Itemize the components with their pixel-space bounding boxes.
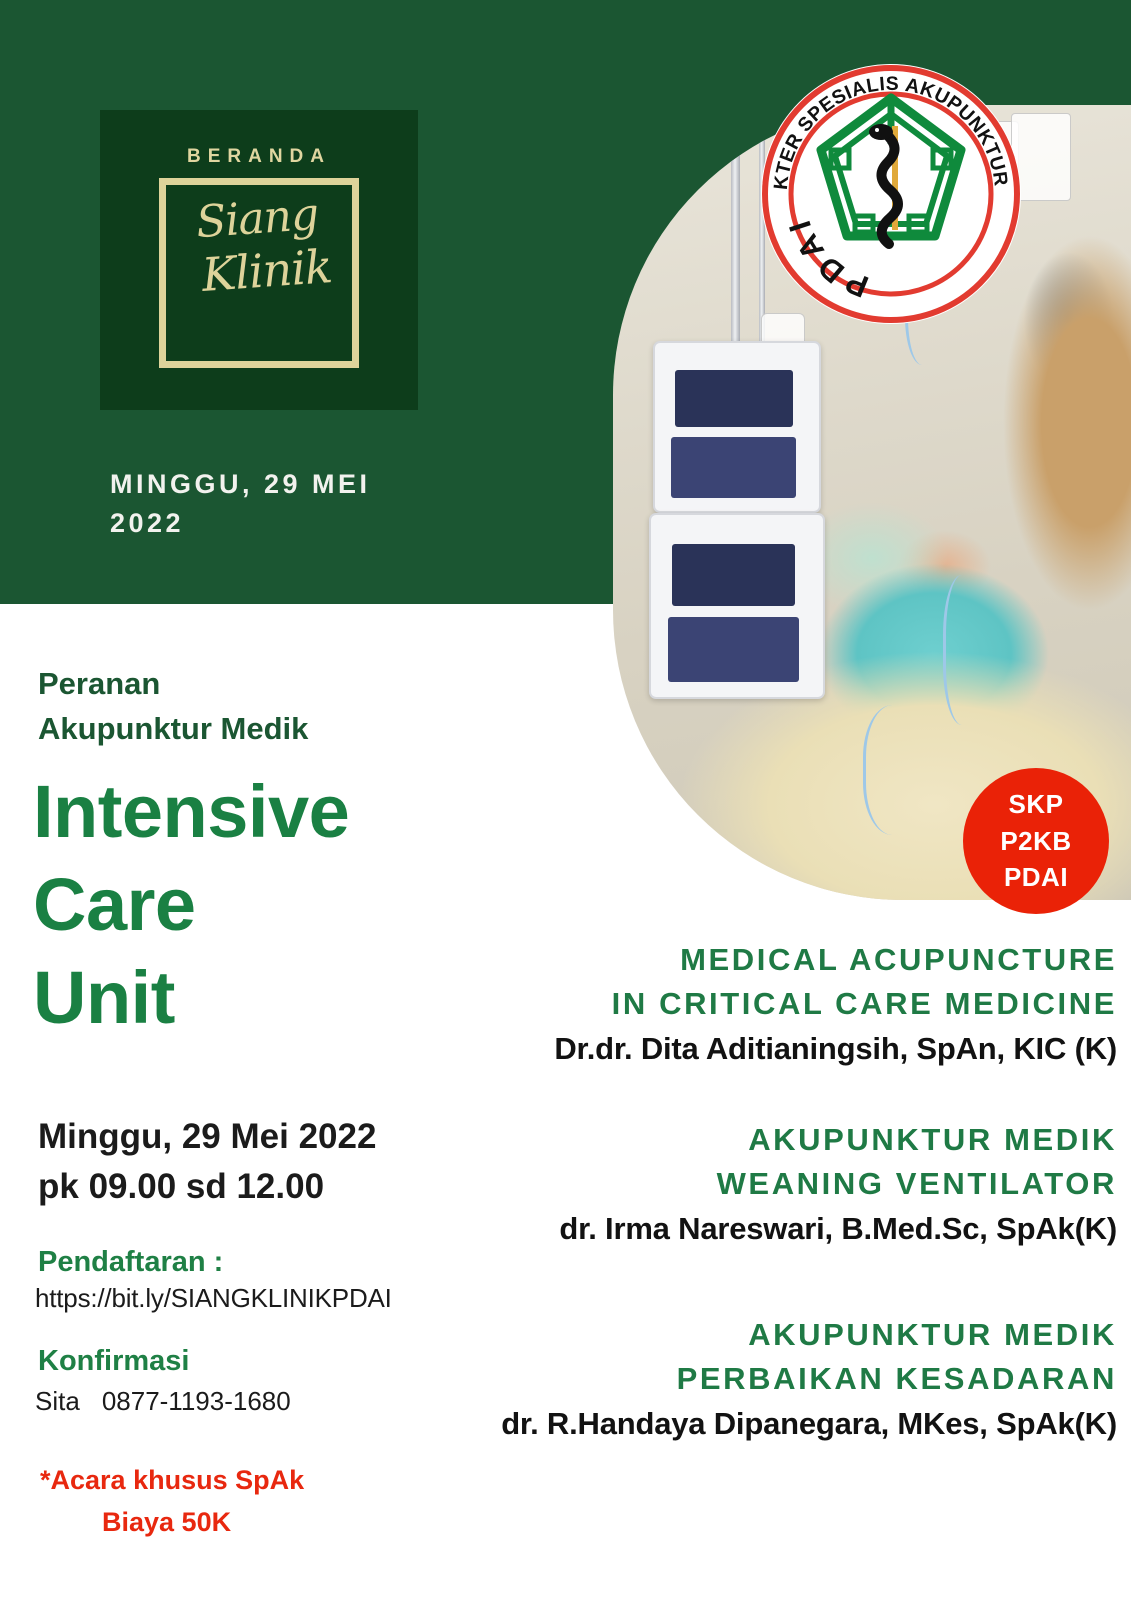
confirmation-contact-phone: 0877-1193-1680 xyxy=(102,1386,291,1416)
skp-badge: SKP P2KB PDAI xyxy=(963,768,1109,914)
brand-script-line1: Siang xyxy=(194,189,319,248)
session-topic-line2: IN CRITICAL CARE MEDICINE xyxy=(437,982,1117,1026)
skp-badge-line3: PDAI xyxy=(1004,859,1068,896)
session-item: AKUPUNKTUR MEDIK WEANING VENTILATOR dr. … xyxy=(437,1118,1117,1247)
header-date-banner: MINGGU, 29 MEI 2022 xyxy=(110,465,440,543)
pdai-seal: PERHIMPUNAN DOKTER SPESIALIS AKUPUNKTUR … xyxy=(755,58,1027,330)
patient-line-icon xyxy=(943,575,990,725)
fee-note-line2: Biaya 50K xyxy=(102,1502,380,1544)
infusion-pump-top-icon xyxy=(653,341,821,513)
event-title-line3: Unit xyxy=(33,951,493,1044)
session-topic: AKUPUNKTUR MEDIK WEANING VENTILATOR xyxy=(437,1118,1117,1206)
fee-note: *Acara khusus SpAk Biaya 50K xyxy=(40,1460,380,1544)
confirmation-contact-name: Sita xyxy=(35,1386,80,1416)
fee-note-line1: *Acara khusus SpAk xyxy=(40,1465,304,1495)
session-speaker: Dr.dr. Dita Aditianingsih, SpAn, KIC (K) xyxy=(437,1031,1117,1067)
skp-badge-line1: SKP xyxy=(1009,786,1064,823)
confirmation-label: Konfirmasi xyxy=(38,1345,189,1378)
session-topic-line2: PERBAIKAN KESADARAN xyxy=(437,1357,1117,1401)
brand-logo: BERANDA Siang Klinik xyxy=(100,110,418,410)
session-topic-line2: WEANING VENTILATOR xyxy=(437,1162,1117,1206)
session-item: AKUPUNKTUR MEDIK PERBAIKAN KESADARAN dr.… xyxy=(437,1313,1117,1442)
confirmation-contact: Sita0877-1193-1680 xyxy=(35,1386,291,1417)
event-title: Intensive Care Unit xyxy=(33,765,493,1045)
session-topic: AKUPUNKTUR MEDIK PERBAIKAN KESADARAN xyxy=(437,1313,1117,1401)
session-topic-line1: AKUPUNKTUR MEDIK xyxy=(437,1118,1117,1162)
skp-badge-line2: P2KB xyxy=(1000,823,1071,860)
event-kicker-line2: Akupunktur Medik xyxy=(38,707,458,752)
registration-link[interactable]: https://bit.ly/SIANGKLINIKPDAI xyxy=(35,1283,392,1314)
event-title-line2: Care xyxy=(33,858,493,951)
registration-label: Pendaftaran : xyxy=(38,1246,223,1279)
event-kicker-line1: Peranan xyxy=(38,662,458,707)
session-topic-line1: MEDICAL ACUPUNCTURE xyxy=(437,938,1117,982)
session-topic: MEDICAL ACUPUNCTURE IN CRITICAL CARE MED… xyxy=(437,938,1117,1026)
infusion-pump-bottom-icon xyxy=(649,513,825,699)
session-speaker: dr. R.Handaya Dipanegara, MKes, SpAk(K) xyxy=(437,1406,1117,1442)
session-item: MEDICAL ACUPUNCTURE IN CRITICAL CARE MED… xyxy=(437,938,1117,1067)
event-kicker: Peranan Akupunktur Medik xyxy=(38,662,458,752)
brand-script-line2: Klinik xyxy=(178,241,355,300)
patient-line-2-icon xyxy=(863,705,936,835)
brand-script: Siang Klinik xyxy=(163,191,355,302)
poster-canvas: BERANDA Siang Klinik MINGGU, 29 MEI 2022 xyxy=(0,0,1131,1600)
brand-eyebrow: BERANDA xyxy=(100,146,418,168)
session-topic-line1: AKUPUNKTUR MEDIK xyxy=(437,1313,1117,1357)
event-title-line1: Intensive xyxy=(33,765,493,858)
brand-frame: Siang Klinik xyxy=(159,178,359,368)
session-speaker: dr. Irma Nareswari, B.Med.Sc, SpAk(K) xyxy=(437,1211,1117,1247)
